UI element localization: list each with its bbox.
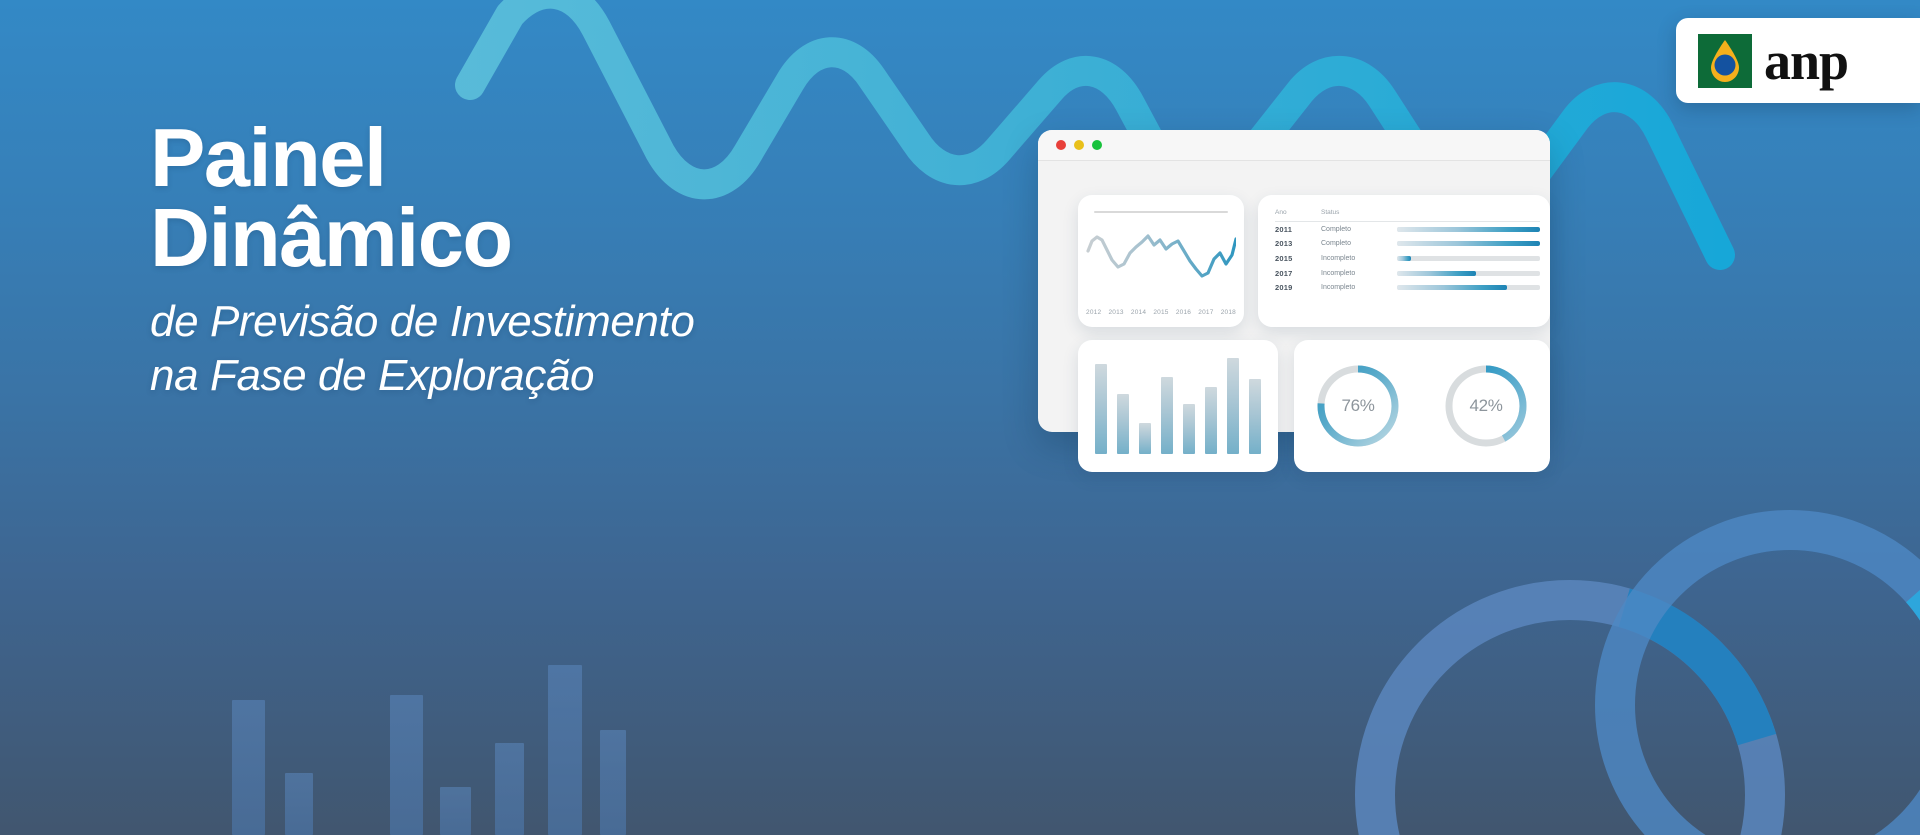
cell-status: Completo <box>1321 226 1397 233</box>
background-bar-decoration <box>0 535 820 835</box>
donut-value-label: 76% <box>1314 362 1402 450</box>
progress-fill <box>1397 256 1411 261</box>
bar-chart-graphic <box>1095 358 1261 454</box>
progress-track <box>1397 271 1540 276</box>
progress-fill <box>1397 241 1540 246</box>
window-close-icon[interactable] <box>1056 140 1066 150</box>
donut-gauge: 76% <box>1314 362 1402 450</box>
table-row[interactable]: 2015Incompleto <box>1275 251 1540 266</box>
cell-ano: 2011 <box>1275 225 1321 234</box>
anp-wordmark: anp <box>1764 34 1848 88</box>
donut-value-label: 42% <box>1442 362 1530 450</box>
donut-gauges-card[interactable]: 76% 42% <box>1294 340 1550 472</box>
window-minimize-icon[interactable] <box>1074 140 1084 150</box>
anp-logo-badge[interactable]: anp <box>1676 18 1920 103</box>
progress-track <box>1397 241 1540 246</box>
line-chart-graphic <box>1086 223 1236 293</box>
bar-chart-card[interactable] <box>1078 340 1278 472</box>
cell-status: Incompleto <box>1321 270 1397 277</box>
page-subtitle: de Previsão de Investimento na Fase de E… <box>150 295 1010 402</box>
headline-block: Painel Dinâmico de Previsão de Investime… <box>150 118 1010 403</box>
cell-ano: 2015 <box>1275 254 1321 263</box>
cell-progress <box>1397 227 1540 232</box>
bar <box>1139 423 1151 454</box>
page-title: Painel Dinâmico <box>150 118 1010 277</box>
bar <box>1183 404 1195 454</box>
table-row[interactable]: 2017Incompleto <box>1275 266 1540 281</box>
progress-track <box>1397 285 1540 290</box>
column-header-status: Status <box>1321 209 1397 216</box>
progress-fill <box>1397 271 1476 276</box>
cell-status: Incompleto <box>1321 255 1397 262</box>
window-maximize-icon[interactable] <box>1092 140 1102 150</box>
table-row[interactable]: 2011Completo <box>1275 222 1540 237</box>
axis-tick: 2013 <box>1108 309 1123 316</box>
table-row[interactable]: 2019Incompleto <box>1275 280 1540 295</box>
axis-tick: 2016 <box>1176 309 1191 316</box>
cell-progress <box>1397 271 1540 276</box>
cell-progress <box>1397 241 1540 246</box>
cell-progress <box>1397 285 1540 290</box>
table-body: 2011Completo2013Completo2015Incompleto20… <box>1275 222 1540 295</box>
cell-ano: 2019 <box>1275 283 1321 292</box>
axis-tick: 2017 <box>1198 309 1213 316</box>
axis-tick: 2012 <box>1086 309 1101 316</box>
anp-droplet-icon <box>1698 34 1752 88</box>
donut-gauge: 42% <box>1442 362 1530 450</box>
cell-status: Completo <box>1321 240 1397 247</box>
status-table-card[interactable]: Ano Status 2011Completo2013Completo2015I… <box>1258 195 1550 327</box>
progress-track <box>1397 227 1540 232</box>
axis-tick: 2018 <box>1221 309 1236 316</box>
cell-ano: 2017 <box>1275 269 1321 278</box>
cell-status: Incompleto <box>1321 284 1397 291</box>
column-header-progress <box>1397 209 1540 216</box>
window-titlebar <box>1038 130 1550 161</box>
progress-fill <box>1397 285 1507 290</box>
card-title-placeholder-bar <box>1094 211 1228 213</box>
bar <box>1117 394 1129 454</box>
progress-fill <box>1397 227 1540 232</box>
progress-track <box>1397 256 1540 261</box>
bar <box>1227 358 1239 454</box>
poster-canvas: Painel Dinâmico de Previsão de Investime… <box>0 0 1920 835</box>
line-chart-x-axis: 2012 2013 2014 2015 2016 2017 2018 <box>1086 309 1236 316</box>
table-header-row: Ano Status <box>1275 209 1540 222</box>
table-row[interactable]: 2013Completo <box>1275 237 1540 252</box>
bar <box>1249 379 1261 454</box>
axis-tick: 2014 <box>1131 309 1146 316</box>
bar <box>1095 364 1107 454</box>
bar <box>1161 377 1173 454</box>
line-chart-card[interactable]: 2012 2013 2014 2015 2016 2017 2018 <box>1078 195 1244 327</box>
bar <box>1205 387 1217 454</box>
status-table: Ano Status 2011Completo2013Completo2015I… <box>1275 209 1540 295</box>
column-header-ano: Ano <box>1275 209 1321 216</box>
axis-tick: 2015 <box>1153 309 1168 316</box>
cell-ano: 2013 <box>1275 239 1321 248</box>
cell-progress <box>1397 256 1540 261</box>
